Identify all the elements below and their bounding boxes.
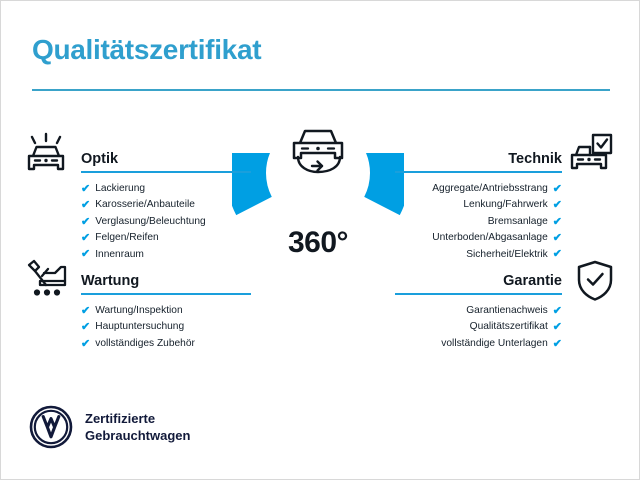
list-item-label: Lenkung/Fahrwerk: [463, 197, 547, 213]
checklist: Garantienachweis ✔ Qualitätszertifikat ✔…: [395, 303, 562, 352]
list-item-label: Garantienachweis: [466, 303, 548, 319]
footer-text: Zertifizierte Gebrauchtwagen: [85, 410, 190, 444]
section-header: Optik: [81, 145, 251, 169]
list-item-label: Aggregate/Antriebsstrang: [432, 181, 548, 197]
check-icon: ✔: [81, 184, 90, 195]
list-item-label: Unterboden/Abgasanlage: [432, 230, 548, 246]
check-icon: ✔: [553, 249, 562, 260]
list-item-label: Innenraum: [95, 247, 144, 263]
check-icon: ✔: [81, 306, 90, 317]
list-item-label: Sicherheit/Elektrik: [466, 247, 548, 263]
list-item: Sicherheit/Elektrik ✔: [395, 247, 562, 263]
list-item: Qualitätszertifikat ✔: [395, 319, 562, 335]
check-icon: ✔: [81, 249, 90, 260]
car-front-rotate-icon: [286, 124, 350, 176]
list-item: ✔ Lackierung: [81, 181, 251, 197]
list-item: Lenkung/Fahrwerk ✔: [395, 197, 562, 213]
list-item-label: Qualitätszertifikat: [470, 319, 548, 335]
check-icon: ✔: [81, 217, 90, 228]
car-shine-icon: [24, 132, 70, 183]
section-header: Garantie: [395, 267, 562, 291]
check-icon: ✔: [81, 322, 90, 333]
footer-line-1: Zertifizierte: [85, 410, 190, 427]
wrench-car-icon: [24, 259, 70, 306]
section-wartung: Wartung ✔ Wartung/Inspektion ✔ Hauptunte…: [81, 267, 251, 352]
checklist: ✔ Lackierung ✔ Karosserie/Anbauteile ✔ V…: [81, 181, 251, 263]
shield-check-icon: [576, 260, 614, 307]
list-item: ✔ vollständiges Zubehör: [81, 336, 251, 352]
check-icon: ✔: [553, 184, 562, 195]
check-icon: ✔: [553, 306, 562, 317]
list-item-label: Felgen/Reifen: [95, 230, 158, 246]
check-icon: ✔: [81, 233, 90, 244]
check-icon: ✔: [553, 217, 562, 228]
list-item-label: vollständige Unterlagen: [441, 336, 547, 352]
section-divider: [81, 293, 251, 295]
section-divider: [395, 171, 562, 173]
list-item-label: Karosserie/Anbauteile: [95, 197, 195, 213]
section-divider: [395, 293, 562, 295]
list-item-label: Bremsanlage: [488, 214, 548, 230]
list-item: ✔ Hauptuntersuchung: [81, 319, 251, 335]
list-item-label: vollständiges Zubehör: [95, 336, 195, 352]
section-divider: [81, 171, 251, 173]
list-item-label: Verglasung/Beleuchtung: [95, 214, 205, 230]
checklist: ✔ Wartung/Inspektion ✔ Hauptuntersuchung…: [81, 303, 251, 352]
section-title: Optik: [81, 151, 118, 167]
list-item-label: Hauptuntersuchung: [95, 319, 184, 335]
check-icon: ✔: [81, 339, 90, 350]
checklist: Aggregate/Antriebsstrang ✔ Lenkung/Fahrw…: [395, 181, 562, 263]
section-header: Technik: [395, 145, 562, 169]
360-check-badge: Gebrauchtwagen-Check 360°: [232, 153, 404, 325]
list-item: vollständige Unterlagen ✔: [395, 336, 562, 352]
list-item: Unterboden/Abgasanlage ✔: [395, 230, 562, 246]
page-title: Qualitätszertifikat: [32, 34, 261, 66]
section-garantie: Garantie Garantienachweis ✔ Qualitätszer…: [395, 267, 562, 352]
section-title: Wartung: [81, 273, 139, 289]
list-item: ✔ Verglasung/Beleuchtung: [81, 214, 251, 230]
check-icon: ✔: [553, 322, 562, 333]
check-icon: ✔: [81, 200, 90, 211]
quality-certificate-page: Qualitätszertifikat: [0, 0, 640, 480]
section-optik: Optik ✔ Lackierung ✔ Karosserie/Anbautei…: [81, 145, 251, 263]
section-title: Technik: [508, 151, 562, 167]
title-divider: [32, 89, 610, 91]
list-item: Bremsanlage ✔: [395, 214, 562, 230]
list-item: ✔ Felgen/Reifen: [81, 230, 251, 246]
list-item: ✔ Karosserie/Anbauteile: [81, 197, 251, 213]
section-technik: Technik Aggregate/Antriebsstrang ✔ Lenku…: [395, 145, 562, 263]
list-item-label: Wartung/Inspektion: [95, 303, 182, 319]
badge-center-label: 360°: [232, 153, 404, 325]
list-item: Aggregate/Antriebsstrang ✔: [395, 181, 562, 197]
section-title: Garantie: [503, 273, 562, 289]
brand-footer: Zertifizierte Gebrauchtwagen: [29, 405, 190, 449]
footer-line-2: Gebrauchtwagen: [85, 427, 190, 444]
volkswagen-logo: [29, 405, 73, 449]
car-checkbox-icon: [568, 132, 614, 183]
check-icon: ✔: [553, 200, 562, 211]
list-item-label: Lackierung: [95, 181, 145, 197]
list-item: ✔ Wartung/Inspektion: [81, 303, 251, 319]
section-header: Wartung: [81, 267, 251, 291]
list-item: ✔ Innenraum: [81, 247, 251, 263]
list-item: Garantienachweis ✔: [395, 303, 562, 319]
check-icon: ✔: [553, 339, 562, 350]
check-icon: ✔: [553, 233, 562, 244]
